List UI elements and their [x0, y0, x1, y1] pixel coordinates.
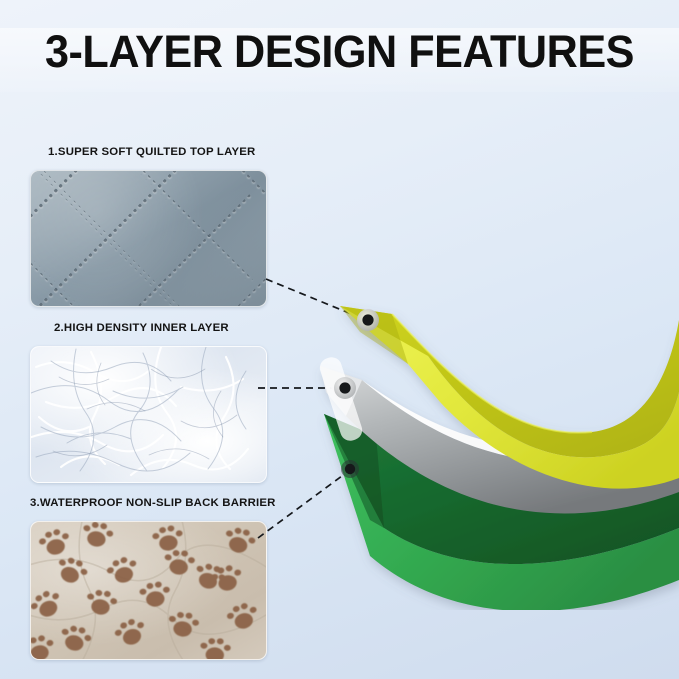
infographic-canvas: 3-LAYER DESIGN FEATURES 1.SUPER SOFT QUI… — [0, 0, 679, 679]
grommet-marker-top — [357, 309, 379, 331]
three-layer-curved-stack — [300, 280, 679, 610]
grommet-marker-bottom — [341, 460, 359, 478]
